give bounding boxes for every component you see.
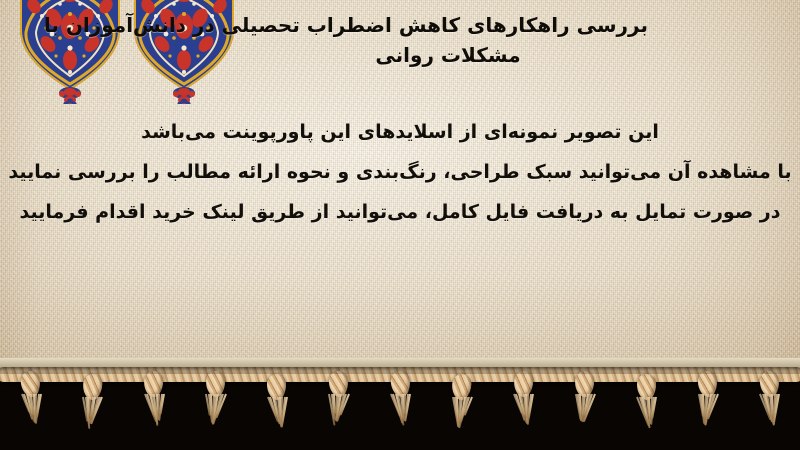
tassel-skirt <box>141 394 167 428</box>
tassel <box>200 371 230 428</box>
tassel <box>262 374 292 431</box>
tassel-skirt <box>695 394 721 428</box>
title-line-2: مشکلات روانی <box>118 40 778 70</box>
tassel <box>754 371 784 428</box>
slide-title: بررسی راهکارهای کاهش اضطراب تحصیلی در دا… <box>118 10 778 70</box>
tassel-skirt <box>449 397 475 431</box>
body-line-1: این تصویر نمونه‌ای از اسلایدهای این پاور… <box>0 112 800 152</box>
tassel-skirt <box>202 394 228 428</box>
tassel <box>77 374 107 431</box>
tassel-skirt <box>510 394 536 428</box>
tassel <box>693 371 723 428</box>
tassel <box>16 371 46 428</box>
tassel <box>508 371 538 428</box>
tassel-skirt <box>756 394 782 428</box>
tassel <box>323 371 353 428</box>
carpet-tassel-fringe <box>0 358 800 450</box>
tassel <box>570 371 600 428</box>
presentation-slide: بررسی راهکارهای کاهش اضطراب تحصیلی در دا… <box>0 0 800 450</box>
body-line-2: با مشاهده آن می‌توانید سبک طراحی، رنگ‌بن… <box>0 152 800 192</box>
tassel-skirt <box>18 394 44 428</box>
tassel-skirt <box>633 397 659 431</box>
tassel <box>631 374 661 431</box>
tassel-skirt <box>79 397 105 431</box>
tassel <box>385 371 415 428</box>
body-line-3: در صورت تمایل به دریافت فایل کامل، می‌تو… <box>0 192 800 232</box>
tassel-skirt <box>387 394 413 428</box>
tassel-skirt <box>264 397 290 431</box>
tassel <box>447 374 477 431</box>
tassel-skirt <box>325 394 351 428</box>
title-line-1: بررسی راهکارهای کاهش اضطراب تحصیلی در دا… <box>118 10 778 40</box>
tassel <box>139 371 169 428</box>
slide-body-text: این تصویر نمونه‌ای از اسلایدهای این پاور… <box>0 112 800 232</box>
tassel-skirt <box>572 394 598 428</box>
